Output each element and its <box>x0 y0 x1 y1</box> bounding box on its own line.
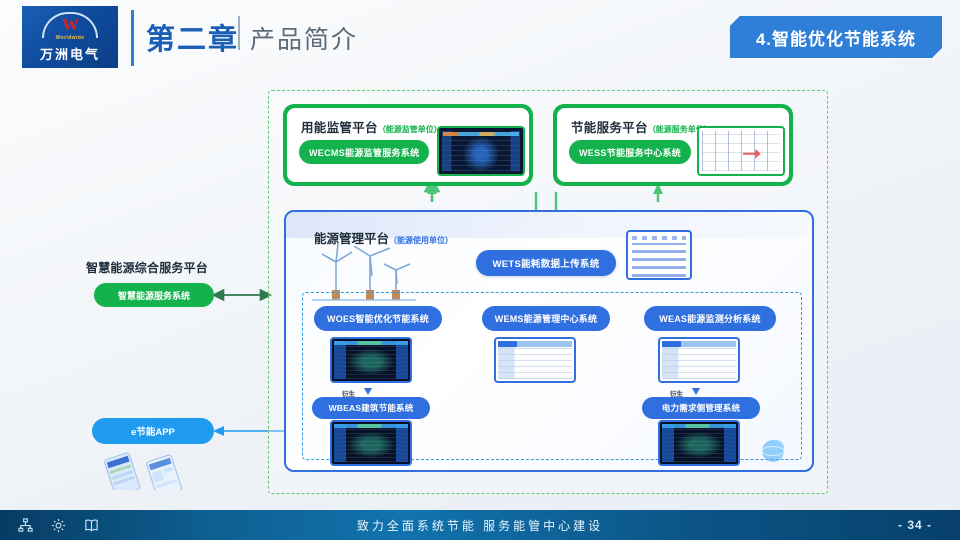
chapter-title: 第二章 <box>146 16 239 58</box>
section-title-text: 4.智能优化节能系统 <box>756 25 916 50</box>
supervision-platform-title: 用能监管平台（能源监管单位） <box>301 117 442 136</box>
weas-screenshot <box>658 337 740 383</box>
slide-header: W Worldwide 万洲电气 第二章 产品简介 4.智能优化节能系统 <box>0 0 960 78</box>
woes-screenshot <box>330 337 412 383</box>
logo-company-name: 万洲电气 <box>40 44 100 63</box>
report-list-thumbnail <box>626 230 692 280</box>
wecms-system-pill[interactable]: WECMS能源监管服务系统 <box>299 140 429 164</box>
header-divider <box>131 10 134 66</box>
mobile-phones-illustration-icon <box>96 448 206 490</box>
wems-system-pill[interactable]: WEMS能源管理中心系统 <box>482 306 610 331</box>
smart-energy-platform-label: 智慧能源综合服务平台 <box>86 259 208 276</box>
supervision-platform-card: 用能监管平台（能源监管单位） WECMS能源监管服务系统 <box>283 104 533 186</box>
smart-energy-service-system-pill[interactable]: 智慧能源服务系统 <box>94 283 214 307</box>
footer-slogan: 致力全面系统节能 服务能管中心建设 <box>0 517 960 534</box>
management-platform-subtitle: （能源使用单位） <box>389 236 453 245</box>
woes-system-pill[interactable]: WOES智能优化节能系统 <box>314 306 442 331</box>
wess-system-pill[interactable]: WESS节能服务中心系统 <box>569 140 691 164</box>
service-platform-title: 节能服务平台（能源服务单位） <box>571 117 712 136</box>
supervision-dashboard-thumbnail <box>437 126 525 176</box>
management-platform-title: 能源管理平台（能源使用单位） <box>314 228 453 247</box>
wets-upload-system-pill[interactable]: WETS能耗数据上传系统 <box>476 250 616 276</box>
service-platform-card: 节能服务平台（能源服务单位） WESS节能服务中心系统 <box>553 104 793 186</box>
wbeas-screenshot <box>330 420 412 466</box>
wbeas-system-pill[interactable]: WBEAS建筑节能系统 <box>312 397 430 419</box>
logo-emblem-icon: W <box>42 12 98 34</box>
chapter-subtitle: 产品简介 <box>250 20 358 56</box>
energy-management-platform-box: 能源管理平台（能源使用单位） WETS能耗数据上传系统 <box>284 210 814 472</box>
globe-decoration-icon <box>756 436 790 464</box>
power-demand-system-pill[interactable]: 电力需求侧管理系统 <box>642 397 760 419</box>
supervision-platform-subtitle: （能源监管单位） <box>378 125 442 134</box>
section-title-chip: 4.智能优化节能系统 <box>730 16 942 58</box>
derive-arrow-left-icon <box>364 388 372 395</box>
derive-arrow-right-icon <box>692 388 700 395</box>
chapter-separator <box>238 16 240 50</box>
company-logo: W Worldwide 万洲电气 <box>22 6 118 68</box>
logo-letter: W <box>42 15 98 35</box>
slide-footer: 致力全面系统节能 服务能管中心建设 - 34 - <box>0 510 960 540</box>
slide-canvas: W Worldwide 万洲电气 第二章 产品简介 4.智能优化节能系统 <box>0 0 960 540</box>
page-number: - 34 - <box>898 518 932 532</box>
service-schematic-thumbnail <box>697 126 785 176</box>
wems-screenshot <box>494 337 576 383</box>
weas-system-pill[interactable]: WEAS能源监测分析系统 <box>644 306 776 331</box>
power-demand-screenshot <box>658 420 740 466</box>
e-energy-app-pill[interactable]: e节能APP <box>92 418 214 444</box>
